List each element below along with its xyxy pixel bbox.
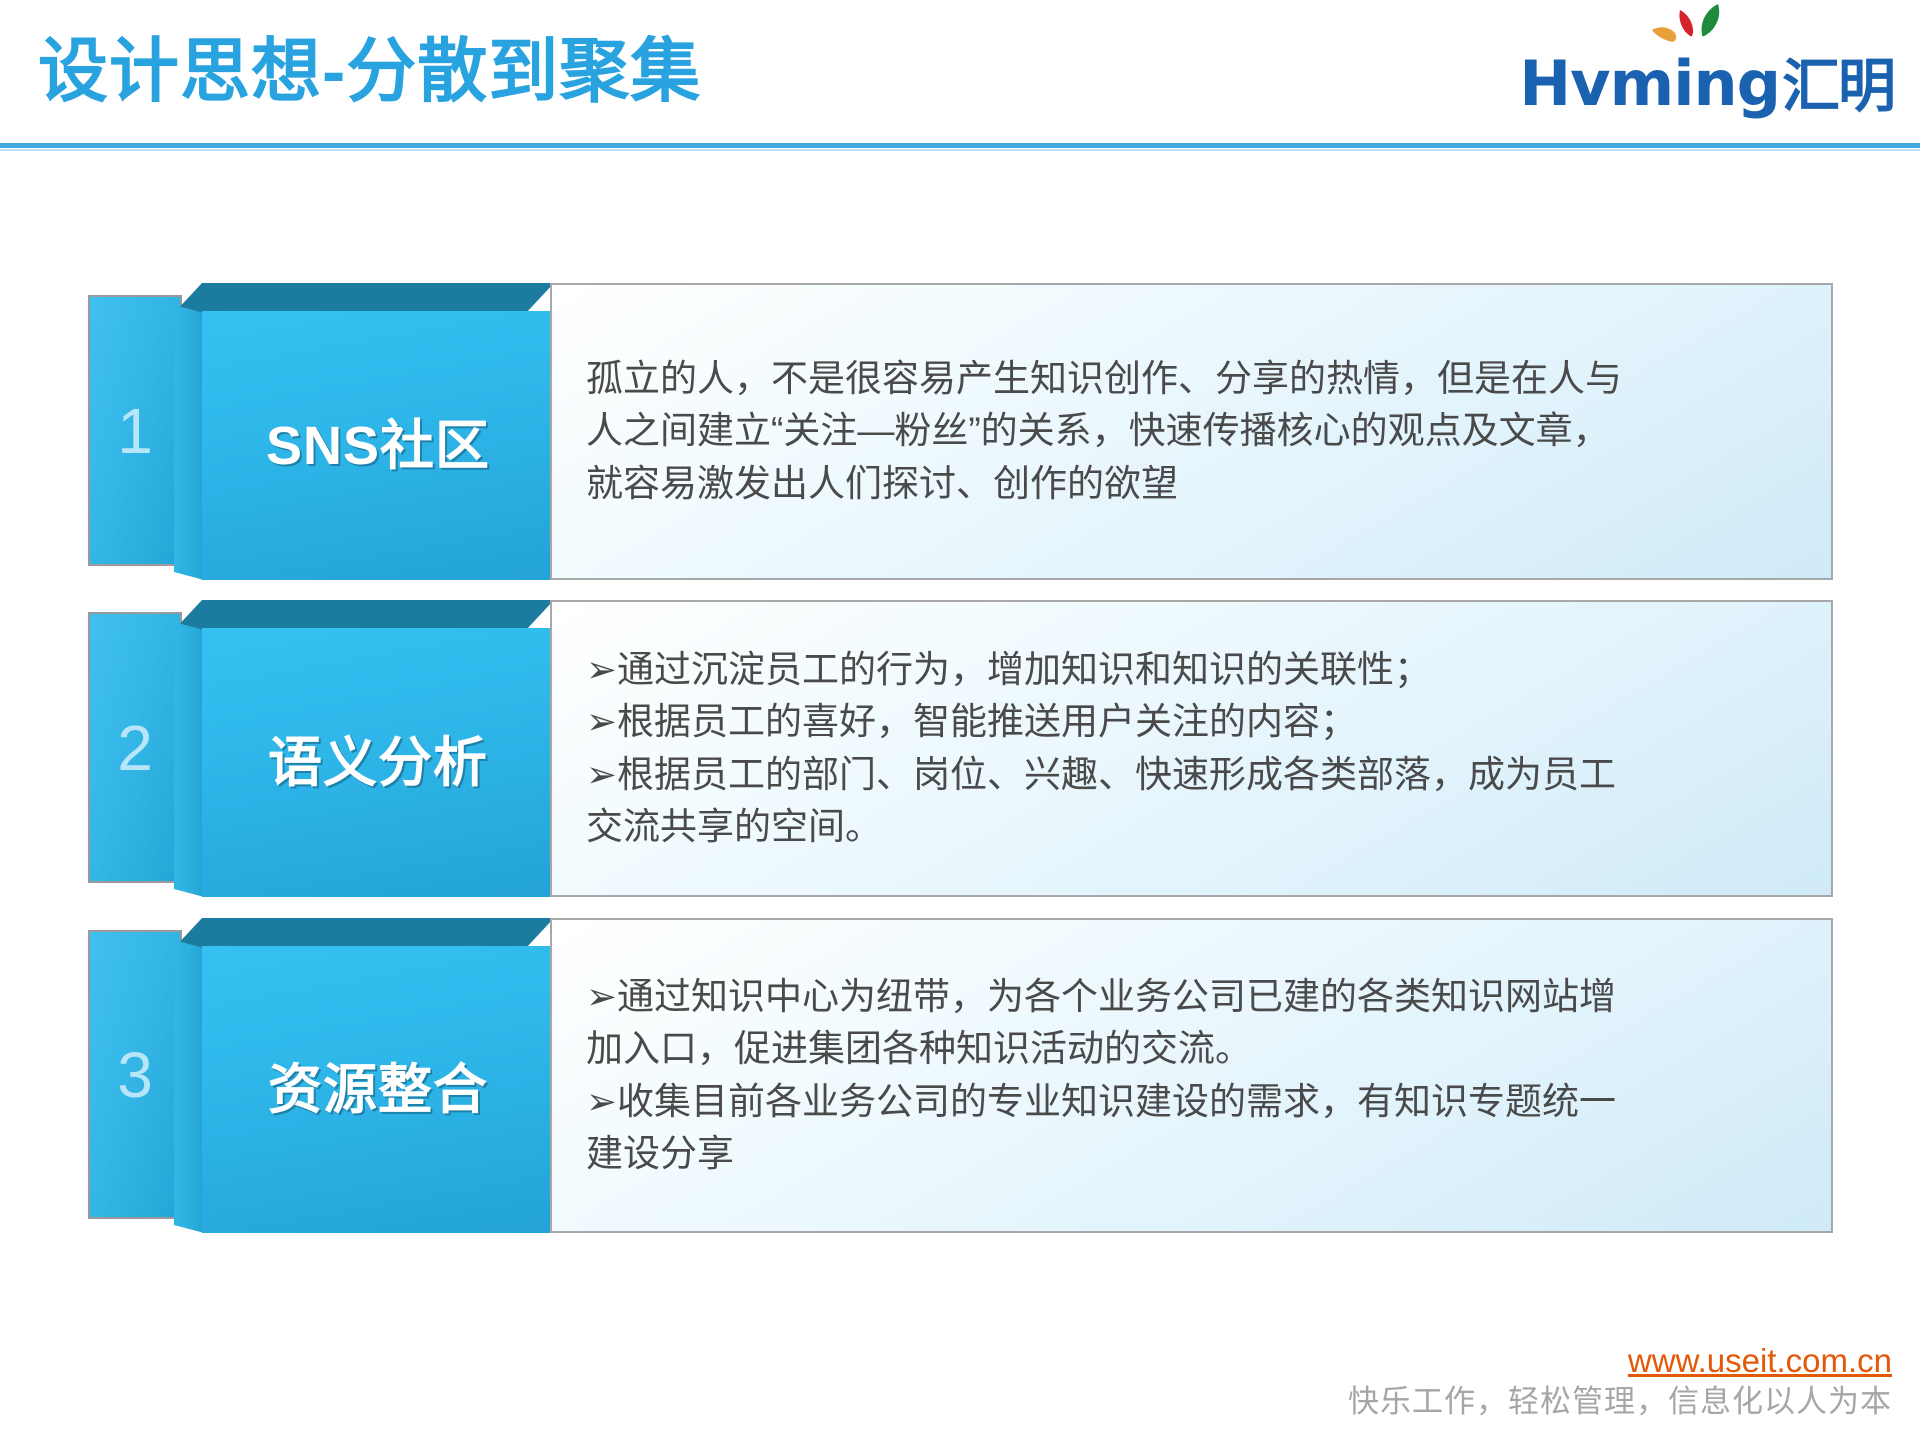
row-label-cube[interactable]: SNS社区 bbox=[174, 283, 554, 580]
content-row: 2 语义分析 ➢通过沉淀员工的行为，增加知识和知识的关联性； ➢根据员工的喜好，… bbox=[88, 600, 1833, 897]
row-bullet-line: ➢根据员工的部门、岗位、兴趣、快速形成各类部落，成为员工 bbox=[586, 749, 1805, 802]
footer-url-link[interactable]: www.useit.com.cn bbox=[1348, 1340, 1892, 1381]
row-label: 资源整合 bbox=[202, 1063, 554, 1117]
row-bullet-line: ➢根据员工的喜好，智能推送用户关注的内容； bbox=[586, 696, 1805, 749]
cube-front-face: SNS社区 bbox=[202, 311, 554, 580]
footer-slogan: 快乐工作，轻松管理，信息化以人为本 bbox=[1348, 1382, 1892, 1422]
row-number-badge: 1 bbox=[88, 295, 182, 566]
row-text-block: 孤立的人，不是很容易产生知识创作、分享的热情，但是在人与 人之间建立“关注—粉丝… bbox=[586, 353, 1805, 511]
row-label-cube[interactable]: 语义分析 bbox=[174, 600, 554, 897]
row-text-panel: ➢通过知识中心为纽带，为各个业务公司已建的各类知识网站增 加入口，促进集团各种知… bbox=[550, 918, 1833, 1233]
cube-front-face: 语义分析 bbox=[202, 628, 554, 897]
row-label: 语义分析 bbox=[202, 736, 554, 790]
cube-front-face: 资源整合 bbox=[202, 946, 554, 1233]
row-text-line: 就容易激发出人们探讨、创作的欲望 bbox=[586, 458, 1805, 511]
row-number: 3 bbox=[90, 1043, 180, 1107]
row-label: SNS社区 bbox=[202, 419, 554, 473]
row-label-cube[interactable]: 资源整合 bbox=[174, 918, 554, 1233]
row-text-line: 孤立的人，不是很容易产生知识创作、分享的热情，但是在人与 bbox=[586, 353, 1805, 406]
row-number-badge: 2 bbox=[88, 612, 182, 883]
cube-left-face bbox=[174, 622, 204, 897]
row-bullet-line: 交流共享的空间。 bbox=[586, 801, 1805, 854]
cube-left-face bbox=[174, 940, 204, 1233]
row-bullet-line: 建设分享 bbox=[586, 1128, 1805, 1181]
content-row: 1 SNS社区 孤立的人，不是很容易产生知识创作、分享的热情，但是在人与 人之间… bbox=[88, 283, 1833, 580]
row-text-panel: 孤立的人，不是很容易产生知识创作、分享的热情，但是在人与 人之间建立“关注—粉丝… bbox=[550, 283, 1833, 580]
content-rows: 1 SNS社区 孤立的人，不是很容易产生知识创作、分享的热情，但是在人与 人之间… bbox=[0, 0, 1920, 1440]
content-row: 3 资源整合 ➢通过知识中心为纽带，为各个业务公司已建的各类知识网站增 加入口，… bbox=[88, 918, 1833, 1233]
row-bullet-line: ➢通过知识中心为纽带，为各个业务公司已建的各类知识网站增 bbox=[586, 970, 1805, 1023]
row-text-panel: ➢通过沉淀员工的行为，增加知识和知识的关联性； ➢根据员工的喜好，智能推送用户关… bbox=[550, 600, 1833, 897]
cube-top-face bbox=[174, 918, 554, 948]
row-text-line: 人之间建立“关注—粉丝”的关系，快速传播核心的观点及文章， bbox=[586, 405, 1805, 458]
row-text-block: ➢通过知识中心为纽带，为各个业务公司已建的各类知识网站增 加入口，促进集团各种知… bbox=[586, 970, 1805, 1180]
slide-footer: www.useit.com.cn 快乐工作，轻松管理，信息化以人为本 bbox=[1348, 1340, 1892, 1422]
row-bullet-line: ➢收集目前各业务公司的专业知识建设的需求，有知识专题统一 bbox=[586, 1076, 1805, 1129]
cube-left-face bbox=[174, 305, 204, 580]
row-number: 2 bbox=[90, 716, 180, 780]
cube-top-face bbox=[174, 283, 554, 313]
cube-top-face bbox=[174, 600, 554, 630]
row-number-badge: 3 bbox=[88, 930, 182, 1219]
row-bullet-line: 加入口，促进集团各种知识活动的交流。 bbox=[586, 1023, 1805, 1076]
row-text-block: ➢通过沉淀员工的行为，增加知识和知识的关联性； ➢根据员工的喜好，智能推送用户关… bbox=[586, 643, 1805, 853]
row-bullet-line: ➢通过沉淀员工的行为，增加知识和知识的关联性； bbox=[586, 643, 1805, 696]
row-number: 1 bbox=[90, 399, 180, 463]
